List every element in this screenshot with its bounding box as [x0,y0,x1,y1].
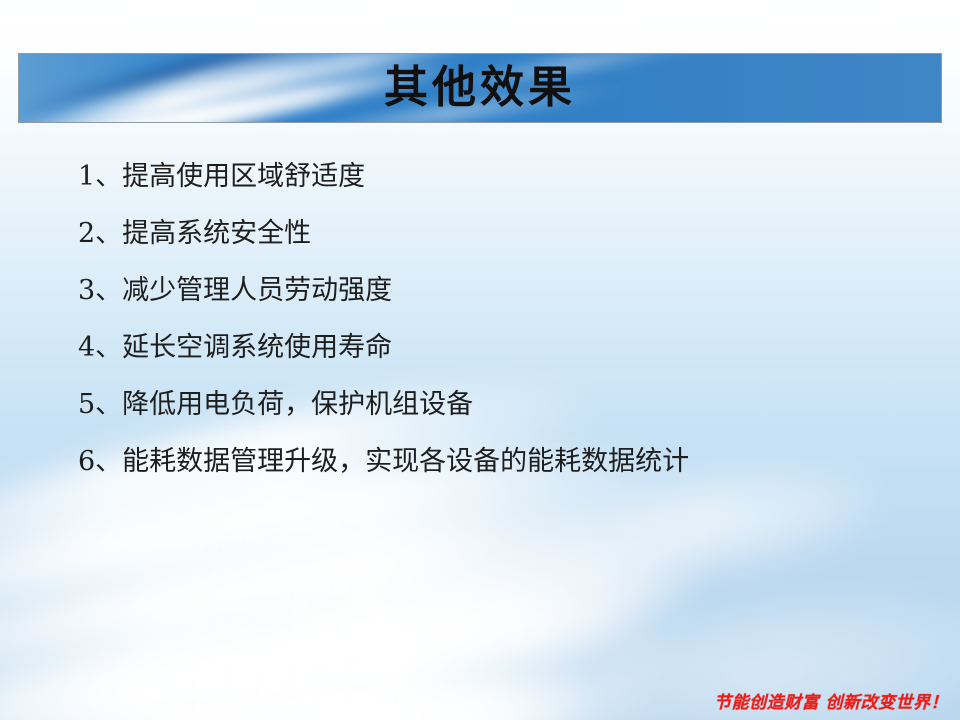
list-item: 4、延长空调系统使用寿命 [78,319,918,376]
list-item: 1、提高使用区域舒适度 [78,148,918,205]
cloud-wisp-icon [35,658,664,720]
banner-cloud-streak-icon [18,81,358,123]
footer-slogan: 节能创造财富 创新改变世界！ [714,688,948,713]
cloud-wisp-icon [0,483,725,720]
banner-cloud-streak-icon [18,53,416,123]
banner-cloud-streak-icon [33,53,406,123]
list-item: 3、减少管理人员劳动强度 [78,262,918,319]
cloud-wisp-icon [0,574,686,720]
banner-cloud-streak-icon [18,53,397,123]
title-banner: 其他效果 [18,53,942,123]
list-item: 6、能耗数据管理升级，实现各设备的能耗数据统计 [78,433,918,490]
cloud-wisp-icon [275,523,705,686]
list-item: 5、降低用电负荷，保护机组设备 [78,376,918,433]
slide-title: 其他效果 [384,66,576,110]
slide-canvas: 其他效果 1、提高使用区域舒适度 2、提高系统安全性 3、减少管理人员劳动强度 … [0,0,960,720]
list-item: 2、提高系统安全性 [78,205,918,262]
bullet-list: 1、提高使用区域舒适度 2、提高系统安全性 3、减少管理人员劳动强度 4、延长空… [78,148,918,490]
